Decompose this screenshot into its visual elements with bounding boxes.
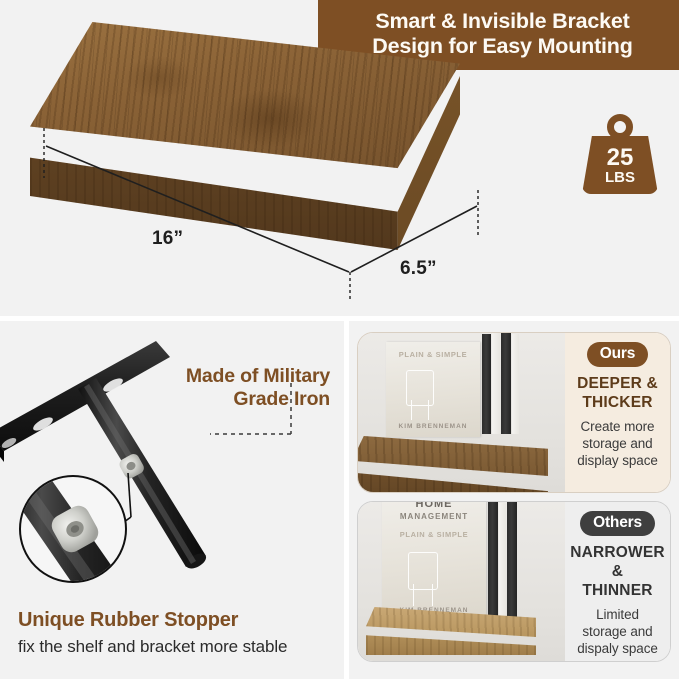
ours-description: Create more storage and display space [565,418,670,469]
others-book-title: PLAIN & SIMPLE [382,530,486,539]
vertical-divider [344,321,349,679]
ours-book-title: PLAIN & SIMPLE [386,350,480,359]
ours-headline-line2: THICKER [577,393,658,412]
comparison-card-ours: PLAIN & SIMPLE KIM BRENNEMAN Ours [357,332,671,493]
others-book-cover: HOME MANAGEMENT PLAIN & SIMPLE KIM BRENN… [382,502,486,621]
ours-book-chair-leg [411,400,414,420]
others-book-chair-leg [413,584,416,606]
ours-book-cover: PLAIN & SIMPLE KIM BRENNEMAN [386,342,480,437]
others-description: Limited storage and dispaly space [565,606,670,657]
others-book-subheading: MANAGEMENT [382,512,486,521]
ours-spine-text-1 [484,418,490,420]
weight-unit: LBS [578,170,662,185]
ours-book-spine-2 [492,333,500,434]
iron-title-line2: Grade Iron [140,388,330,411]
features-section: Made of Military Grade Iron Unique Rubbe… [0,321,679,679]
weight-value: 25 [578,146,662,170]
others-book-spine-1 [488,502,498,619]
others-headline-line1: NARROWER & [565,543,670,581]
shelf-dimensions-section: Smart & Invisible Bracket Design for Eas… [0,0,679,316]
width-dimension-label: 16” [152,228,183,250]
others-book-spine-3 [507,502,517,619]
stopper-feature-title: Unique Rubber Stopper [18,609,338,632]
others-headline-line2: THINNER [565,581,670,600]
others-info: Others NARROWER & THINNER Limited storag… [565,502,670,661]
others-photo: HOME MANAGEMENT PLAIN & SIMPLE KIM BRENN… [358,502,565,661]
ours-book-author: KIM BRENNEMAN [386,423,480,430]
bracket-feature-panel: Made of Military Grade Iron Unique Rubbe… [0,321,344,679]
comparison-card-others: HOME MANAGEMENT PLAIN & SIMPLE KIM BRENN… [357,501,671,662]
others-headline: NARROWER & THINNER [565,543,670,600]
ours-headline-line1: DEEPER & [577,374,658,393]
others-badge: Others [580,511,655,536]
others-book-heading: HOME [382,502,486,510]
others-book-spine-2 [499,503,506,619]
ours-book-spine-4 [512,334,519,434]
ours-info: Ours DEEPER & THICKER Create more storag… [565,333,670,492]
stopper-feature-subtitle: fix the shelf and bracket more stable [18,637,342,657]
weight-capacity-badge: 25 LBS [578,112,662,196]
depth-dimension-label: 6.5” [400,258,437,280]
iron-title-line1: Made of Military [140,365,330,388]
ours-book-chair-leg2 [428,400,431,420]
ours-book-spine-3 [501,333,511,434]
ours-badge: Ours [587,342,648,367]
ours-photo: PLAIN & SIMPLE KIM BRENNEMAN [358,333,565,492]
ours-book-spine-1 [482,334,491,434]
ours-headline: DEEPER & THICKER [577,374,658,412]
iron-feature-title: Made of Military Grade Iron [140,365,330,411]
others-book-chair-leg2 [432,584,435,606]
product-infographic: Smart & Invisible Bracket Design for Eas… [0,0,679,679]
